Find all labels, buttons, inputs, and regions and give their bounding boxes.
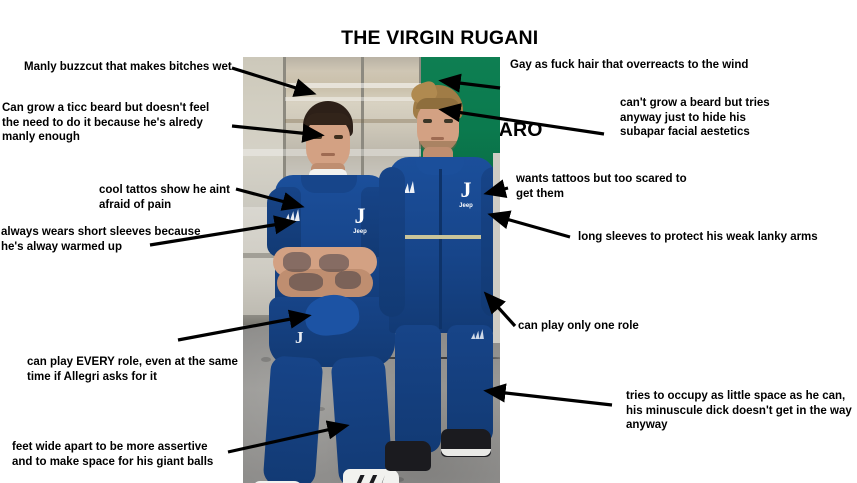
annotation-tattoos: cool tattos show he aint afraid of pain [99,183,239,212]
player-left-hairline [305,113,351,125]
player-right-shoe-sole [441,449,491,456]
annotation-no-beard: can't grow a beard but tries anyway just… [620,96,850,140]
annotation-hair: Gay as fuck hair that overreacts to the … [510,58,810,73]
photo-reflection-1 [285,83,421,88]
player-left-tattoo-2 [319,254,349,272]
annotation-wants-tattoos: wants tattoos but too scared to get them [516,172,736,201]
annotation-short-sleeves: always wears short sleeves because he's … [1,225,213,254]
arrow-little-space [488,391,612,405]
juventus-crest-left: J [349,205,371,227]
arrow-long-sleeves [492,215,570,237]
player-right-eye-left [423,119,432,123]
photo-reflection-2 [285,97,421,101]
player-left-leg-left [263,355,324,483]
player-right-leg-left [395,325,441,453]
jeep-sponsor-left: Jeep [345,229,375,235]
player-right-eye-right [444,119,453,123]
annotation-little-space: tries to occupy as little space as he ca… [626,389,857,433]
player-right-shoe-left [385,441,431,471]
player-right-jacket-zip [439,169,442,329]
juventus-crest-right: J [455,179,477,201]
annotation-long-sleeves: long sleeves to protect his weak lanky a… [578,230,853,245]
annotation-every-role: can play EVERY role, even at the same ti… [27,355,242,384]
annotation-buzzcut: Manly buzzcut that makes bitches wet [24,60,234,75]
player-right-leg-right [447,325,493,445]
player-right-hairline [416,98,460,109]
player-left-eye-left [313,135,322,139]
photo-window-mullion-2 [361,57,364,177]
player-right-mouth [431,137,444,140]
player-right-sleeve-left [379,167,405,317]
jeep-sponsor-right: Jeep [451,203,481,209]
meme-canvas: THE VIRGIN RUGANI VS THE CHAD STURARO [0,0,857,483]
players-photo: J Jeep J J Jeep [243,57,500,483]
annotation-beard: Can grow a ticc beard but doesn't feel t… [2,101,234,145]
player-right-jacket-chest-stripe [393,235,491,239]
player-left-tattoo-3 [289,273,323,291]
player-left-eye-right [334,135,343,139]
photo-ground-speck [261,357,271,362]
annotation-one-role: can play only one role [518,319,718,334]
player-left-mouth [321,153,335,156]
photo-edge-person [493,153,500,343]
player-left-tattoo-1 [283,252,311,272]
player-left-tattoo-4 [335,271,361,289]
annotation-feet-apart: feet wide apart to be more assertive and… [12,440,237,469]
title-left: THE VIRGIN RUGANI [341,27,538,50]
juventus-crest-shorts: J [295,329,313,346]
player-left-polo-collar [301,175,357,193]
